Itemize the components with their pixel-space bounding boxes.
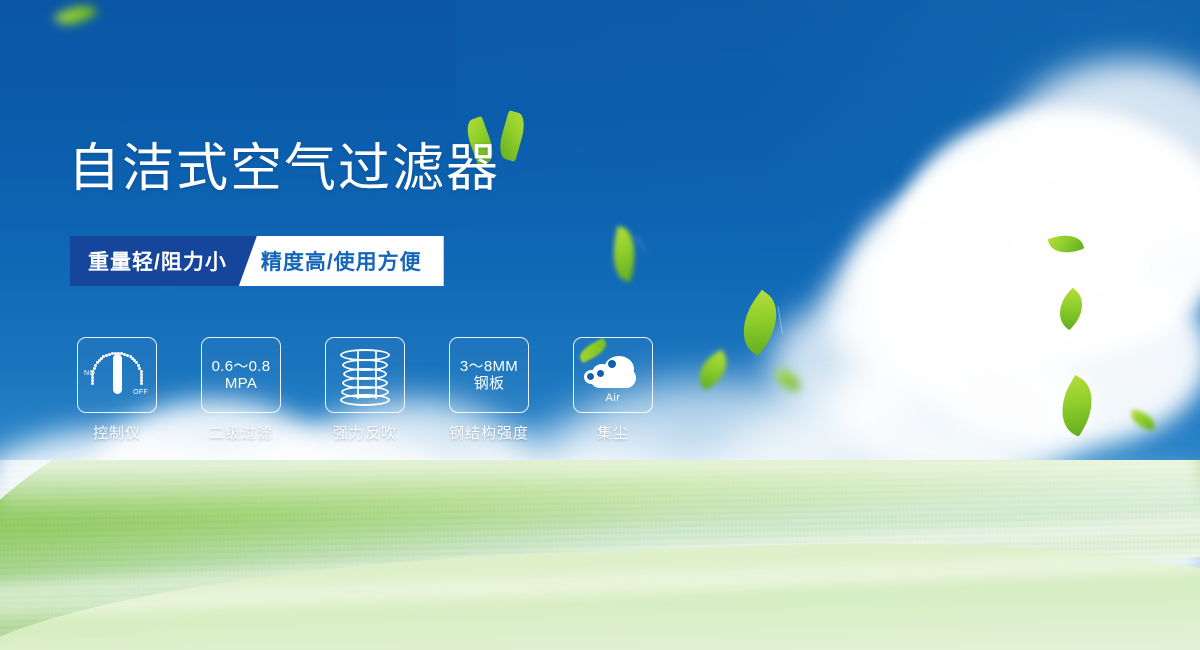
gauge-label-off: OFF: [133, 389, 148, 396]
page-title: 自洁式空气过滤器: [68, 143, 500, 195]
gauge-tick: [91, 379, 94, 382]
banner-content: 自洁式空气过滤器 重量轻/阻力小 精度高/使用方便 NO OFF 控制仪: [0, 0, 1200, 650]
gauge-tick: [93, 367, 96, 370]
cloud-notch: [597, 370, 604, 377]
leaf-icon: [577, 338, 610, 364]
subtitle-bar: 重量轻/阻力小 精度高/使用方便: [70, 236, 444, 286]
feature-item-steel-strength[interactable]: 3～8MM 钢板 钢结构强度: [450, 337, 528, 443]
gauge-tick: [91, 382, 94, 385]
cloud-air-icon: Air: [584, 348, 642, 402]
subtitle-right-badge: 精度高/使用方便: [239, 236, 444, 286]
feature-item-secondary-filter[interactable]: 0.6～0.8 MPA 二级过滤: [202, 337, 280, 443]
pressure-text-icon: 0.6～0.8 MPA: [212, 358, 271, 393]
steel-plate-text-icon: 3～8MM 钢板: [460, 358, 518, 393]
steel-thickness-value: 3～8MM: [460, 358, 518, 375]
feature-item-controller[interactable]: NO OFF 控制仪: [78, 337, 156, 443]
subtitle-left-badge: 重量轻/阻力小: [70, 236, 257, 286]
leaf-icon: [496, 110, 528, 162]
feature-label: 钢结构强度: [449, 422, 529, 443]
product-banner: 自洁式空气过滤器 重量轻/阻力小 精度高/使用方便 NO OFF 控制仪: [0, 0, 1200, 650]
steel-plate-label: 钢板: [460, 375, 518, 392]
feature-item-reverse-blow[interactable]: 强力反吹: [326, 337, 404, 443]
feature-label: 集尘: [597, 422, 629, 443]
gauge-dial-icon: NO OFF: [84, 345, 150, 405]
spiral-coil-icon: [339, 347, 391, 403]
feature-label: 二级过滤: [209, 422, 273, 443]
spiral-ring: [340, 394, 390, 406]
air-label: Air: [584, 392, 642, 404]
cloud-notch: [587, 373, 594, 380]
pressure-value-range: 0.6～0.8: [212, 358, 271, 375]
feature-label: 强力反吹: [333, 422, 397, 443]
gauge-tick: [91, 373, 94, 376]
feature-icon-box: NO OFF: [77, 337, 157, 413]
feature-list: NO OFF 控制仪 0.6～0.8 MPA 二级过滤: [78, 337, 652, 443]
feature-icon-box: 0.6～0.8 MPA: [201, 337, 281, 413]
gauge-tick: [140, 382, 143, 385]
feature-icon-box: 3～8MM 钢板: [449, 337, 529, 413]
gauge-tick: [94, 364, 97, 367]
feature-item-dust-collection[interactable]: Air 集尘: [574, 337, 652, 443]
feature-icon-box: [325, 337, 405, 413]
gauge-tick: [91, 376, 94, 379]
pressure-value-unit: MPA: [212, 375, 271, 392]
feature-label: 控制仪: [93, 422, 141, 443]
cloud-notch: [608, 360, 616, 368]
gauge-needle: [113, 354, 122, 394]
feature-icon-box: Air: [573, 337, 653, 413]
